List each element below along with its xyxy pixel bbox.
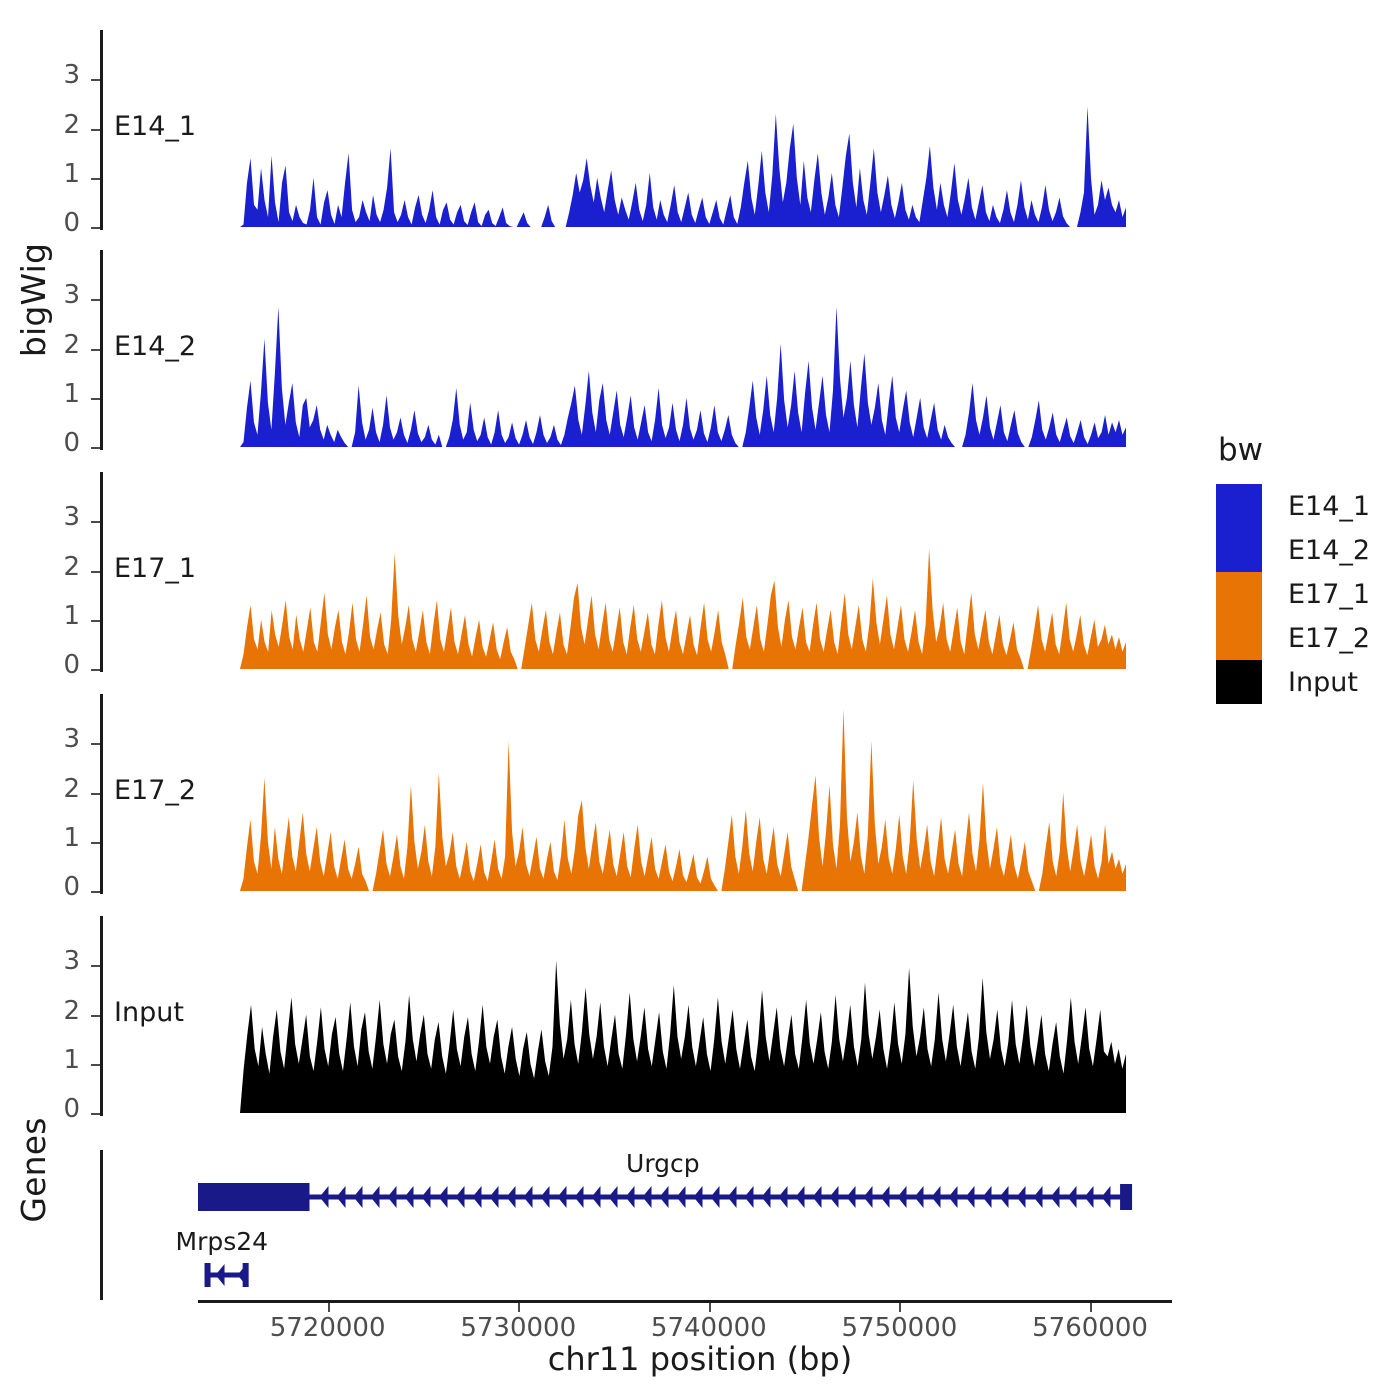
- legend-item-e17_2[interactable]: E17_2: [1216, 616, 1370, 660]
- y-tick: [91, 178, 100, 180]
- strand-arrow-icon: [405, 1186, 414, 1208]
- gene-exon-block: [198, 1183, 310, 1211]
- strand-arrow-icon: [949, 1186, 958, 1208]
- strand-arrow-icon: [575, 1186, 584, 1208]
- legend-item-input[interactable]: Input: [1216, 660, 1370, 704]
- y-tick-label: 2: [40, 552, 80, 582]
- strand-arrow-icon: [813, 1186, 822, 1208]
- x-axis-title: chr11 position (bp): [0, 1340, 1400, 1378]
- y-axis-line: [100, 694, 103, 894]
- y-tick-label: 3: [40, 502, 80, 532]
- strand-arrow-icon: [864, 1186, 873, 1208]
- strand-arrow-icon: [1102, 1186, 1111, 1208]
- strand-arrow-icon: [898, 1186, 907, 1208]
- y-tick: [91, 965, 100, 967]
- strand-arrow-icon: [1034, 1186, 1043, 1208]
- y-tick-label: 0: [40, 872, 80, 902]
- signal-area-input: [240, 916, 1126, 1126]
- strand-arrow-icon: [796, 1186, 805, 1208]
- strand-arrow-icon: [677, 1186, 686, 1208]
- legend-title: bw: [1218, 432, 1370, 468]
- gene-exon-block: [205, 1263, 211, 1287]
- strand-arrow-icon: [779, 1186, 788, 1208]
- strand-arrow-icon: [490, 1186, 499, 1208]
- strand-arrow-icon: [388, 1186, 397, 1208]
- legend: bw E14_1E14_2E17_1E17_2Input: [1216, 432, 1370, 704]
- strand-arrow-icon: [711, 1186, 720, 1208]
- y-tick: [91, 891, 100, 893]
- strand-arrow-icon: [1017, 1186, 1026, 1208]
- gene-exon-block: [243, 1263, 249, 1287]
- y-tick-label: 3: [40, 60, 80, 90]
- strand-arrow-icon: [830, 1186, 839, 1208]
- legend-label: Input: [1288, 667, 1358, 698]
- strand-arrow-icon: [541, 1186, 550, 1208]
- strand-arrow-icon: [745, 1186, 754, 1208]
- y-tick: [91, 398, 100, 400]
- track-label-e14_1: E14_1: [114, 111, 196, 142]
- strand-arrow-icon: [592, 1186, 601, 1208]
- y-tick: [91, 227, 100, 229]
- signal-area-e14_2: [240, 250, 1126, 460]
- strand-arrow-icon: [966, 1186, 975, 1208]
- y-tick: [91, 743, 100, 745]
- track-label-e17_1: E17_1: [114, 553, 196, 584]
- y-tick-label: 3: [40, 280, 80, 310]
- legend-label: E14_2: [1288, 535, 1370, 566]
- y-tick: [91, 793, 100, 795]
- x-tick-label: 5740000: [629, 1313, 789, 1343]
- x-tick-label: 5760000: [1010, 1313, 1170, 1343]
- y-tick: [91, 571, 100, 573]
- y-tick: [91, 349, 100, 351]
- x-tick: [899, 1303, 901, 1312]
- strand-arrow-icon: [216, 1264, 225, 1286]
- y-tick-label: 1: [40, 159, 80, 189]
- strand-arrow-icon: [609, 1186, 618, 1208]
- signal-area-e14_1: [240, 30, 1126, 240]
- x-tick: [1090, 1303, 1092, 1312]
- legend-swatch: [1216, 660, 1262, 704]
- y-tick-label: 2: [40, 110, 80, 140]
- legend-swatch: [1216, 572, 1262, 616]
- strand-arrow-icon: [456, 1186, 465, 1208]
- strand-arrow-icon: [422, 1186, 431, 1208]
- strand-arrow-icon: [762, 1186, 771, 1208]
- strand-arrow-icon: [881, 1186, 890, 1208]
- legend-item-e14_1[interactable]: E14_1: [1216, 484, 1370, 528]
- y-tick-label: 1: [40, 1045, 80, 1075]
- x-tick-label: 5730000: [438, 1313, 598, 1343]
- strand-arrow-icon: [507, 1186, 516, 1208]
- signal-area-e17_2: [240, 694, 1126, 904]
- legend-item-e14_2[interactable]: E14_2: [1216, 528, 1370, 572]
- strand-arrow-icon: [915, 1186, 924, 1208]
- track-label-e14_2: E14_2: [114, 331, 196, 362]
- legend-swatch: [1216, 528, 1262, 572]
- gene-label-mrps24: Mrps24: [176, 1227, 269, 1256]
- legend-items: E14_1E14_2E17_1E17_2Input: [1216, 484, 1370, 704]
- signal-area-e17_1: [240, 472, 1126, 682]
- y-tick: [91, 1015, 100, 1017]
- strand-arrow-icon: [337, 1186, 346, 1208]
- y-tick-label: 0: [40, 428, 80, 458]
- y-tick: [91, 1113, 100, 1115]
- strand-arrow-icon: [371, 1186, 380, 1208]
- strand-arrow-icon: [1051, 1186, 1060, 1208]
- strand-arrow-icon: [847, 1186, 856, 1208]
- strand-arrow-icon: [932, 1186, 941, 1208]
- strand-arrow-icon: [524, 1186, 533, 1208]
- y-tick-label: 2: [40, 330, 80, 360]
- legend-swatch: [1216, 616, 1262, 660]
- y-tick-label: 1: [40, 379, 80, 409]
- y-tick-label: 2: [40, 774, 80, 804]
- strand-arrow-icon: [1068, 1186, 1077, 1208]
- x-tick: [709, 1303, 711, 1312]
- y-tick-label: 0: [40, 208, 80, 238]
- strand-arrow-icon: [558, 1186, 567, 1208]
- strand-arrow-icon: [439, 1186, 448, 1208]
- legend-swatch: [1216, 484, 1262, 528]
- strand-arrow-icon: [728, 1186, 737, 1208]
- y-tick: [91, 299, 100, 301]
- y-tick: [91, 842, 100, 844]
- y-tick-label: 3: [40, 724, 80, 754]
- y-tick: [91, 129, 100, 131]
- y-axis-line: [100, 916, 103, 1116]
- legend-item-e17_1[interactable]: E17_1: [1216, 572, 1370, 616]
- x-axis-line: [198, 1300, 1172, 1303]
- y-tick: [91, 669, 100, 671]
- y-tick: [91, 620, 100, 622]
- strand-arrow-icon: [320, 1186, 329, 1208]
- y-tick: [91, 521, 100, 523]
- strand-arrow-icon: [983, 1186, 992, 1208]
- gene-label-urgcp: Urgcp: [626, 1149, 700, 1178]
- strand-arrow-icon: [1085, 1186, 1094, 1208]
- strand-arrow-icon: [660, 1186, 669, 1208]
- strand-arrow-icon: [473, 1186, 482, 1208]
- track-label-input: Input: [114, 997, 184, 1028]
- y-tick: [91, 447, 100, 449]
- x-tick: [518, 1303, 520, 1312]
- y-tick: [91, 1064, 100, 1066]
- y-tick-label: 1: [40, 601, 80, 631]
- y-tick-label: 0: [40, 1094, 80, 1124]
- x-tick: [328, 1303, 330, 1312]
- strand-arrow-icon: [694, 1186, 703, 1208]
- strand-arrow-icon: [354, 1186, 363, 1208]
- legend-label: E14_1: [1288, 491, 1370, 522]
- y-axis-line: [100, 250, 103, 450]
- x-tick-label: 5720000: [248, 1313, 408, 1343]
- y-axis-line: [100, 472, 103, 672]
- y-tick-label: 3: [40, 946, 80, 976]
- x-tick-label: 5750000: [819, 1313, 979, 1343]
- strand-arrow-icon: [626, 1186, 635, 1208]
- y-tick: [91, 79, 100, 81]
- track-label-e17_2: E17_2: [114, 775, 196, 806]
- legend-label: E17_1: [1288, 579, 1370, 610]
- y-tick-label: 1: [40, 823, 80, 853]
- y-axis-line: [100, 30, 103, 230]
- legend-label: E17_2: [1288, 623, 1370, 654]
- strand-arrow-icon: [643, 1186, 652, 1208]
- y-tick-label: 0: [40, 650, 80, 680]
- strand-arrow-icon: [1000, 1186, 1009, 1208]
- y-tick-label: 2: [40, 996, 80, 1026]
